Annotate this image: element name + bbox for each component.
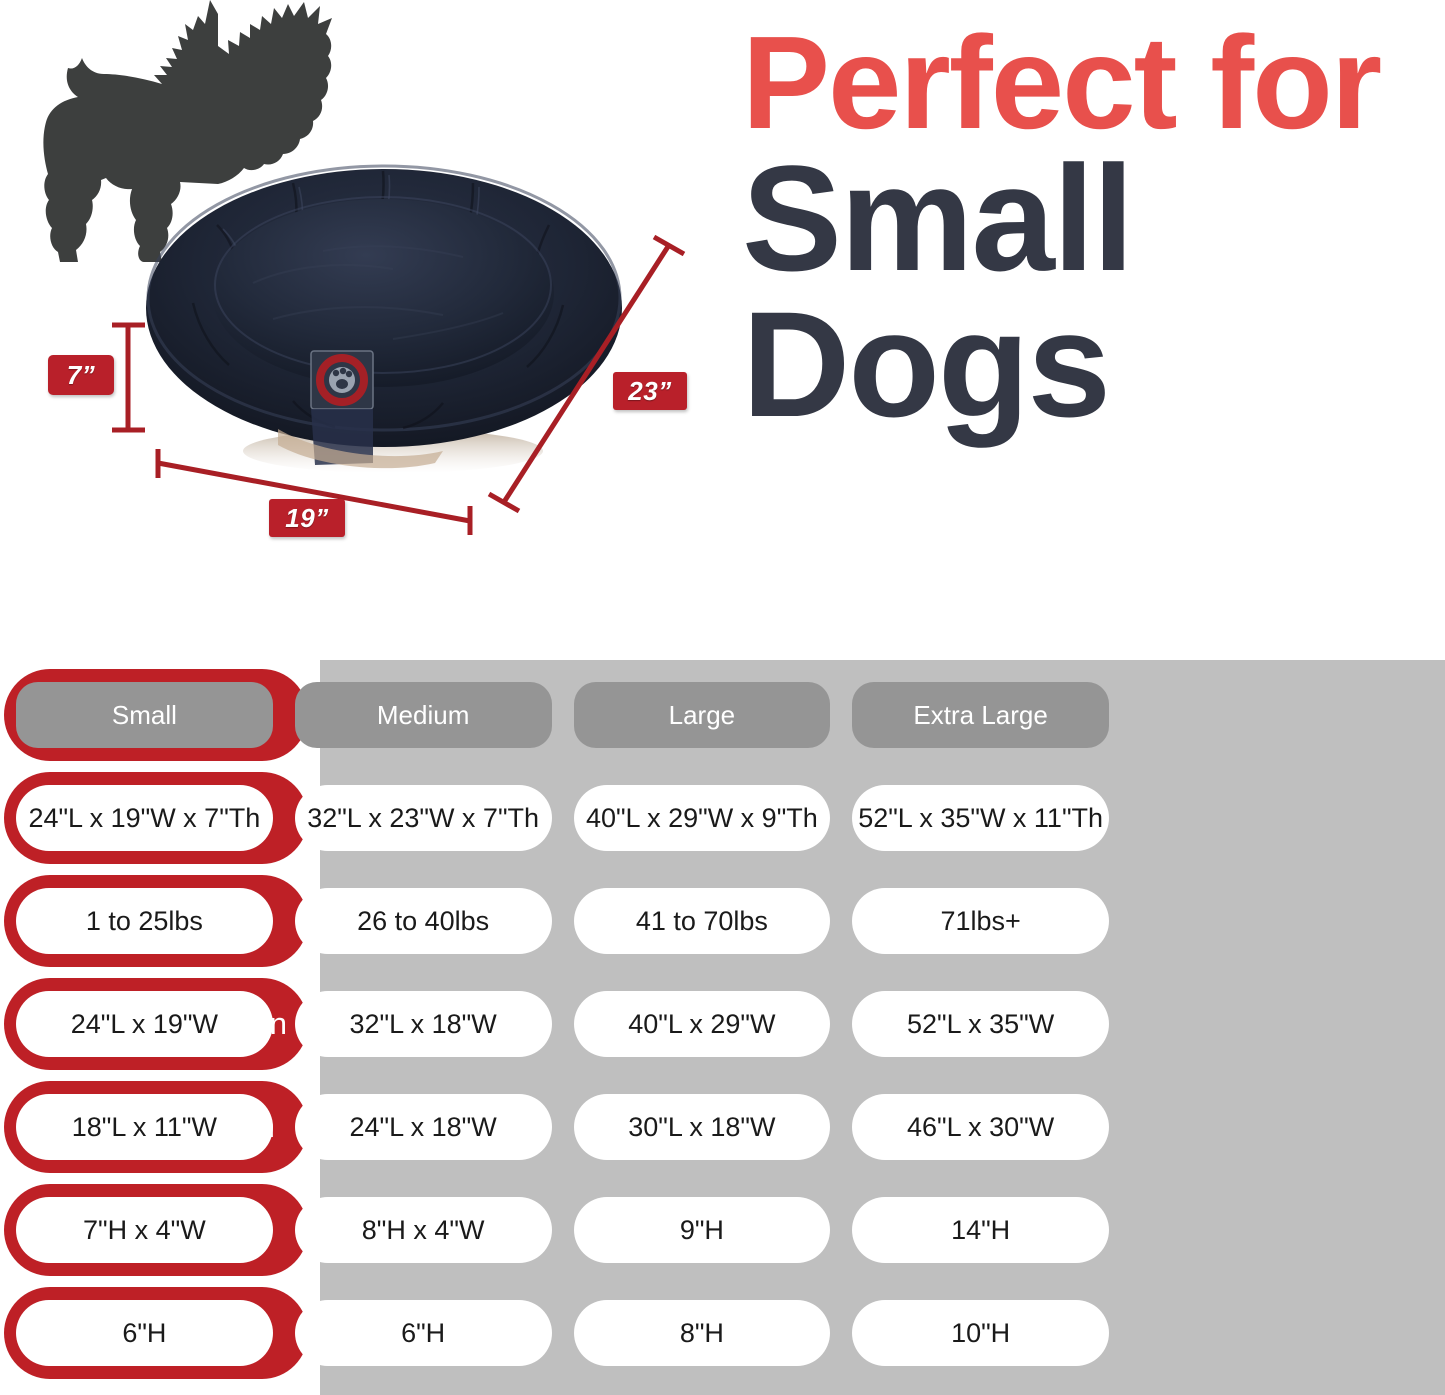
cell-suitable-weight-large: 41 to 70lbs [574, 888, 831, 954]
cell-bolster-small: 7"H x 4"W [16, 1197, 273, 1263]
cell-inside-dimension-small: 18"L x 11"W [16, 1094, 273, 1160]
cell-inside-dimension-medium: 24"L x 18"W [295, 1094, 552, 1160]
dog-bed-product-image [143, 133, 625, 483]
cell-dimensions-medium: 32"L x 23"W x 7"Th [295, 785, 552, 851]
hero-section: 7” 19” 23” Perfect for Small Dogs [0, 0, 1445, 655]
cell-outside-dimension-small: 24"L x 19"W [16, 991, 273, 1057]
size-chart-header-row: SmallMediumLargeExtra Large [16, 669, 1109, 761]
cell-bolster-extra-large: 14"H [852, 1197, 1109, 1263]
cell-bolster-medium: 8"H x 4"W [295, 1197, 552, 1263]
table-row: 1 to 25lbs26 to 40lbs41 to 70lbs71lbs+ [16, 875, 1109, 967]
headline-line-perfect-for: Perfect for [742, 22, 1442, 143]
callout-width-19in: 19” [269, 499, 345, 537]
table-row: 24"L x 19"W x 7"Th32"L x 23"W x 7"Th40"L… [16, 772, 1109, 864]
table-row: 6"H6"H8"H10"H [16, 1287, 1109, 1379]
size-chart-section: SizeDimensionsSuitable WeightOutside Dim… [0, 655, 1445, 1395]
headline-line-small: Small [742, 149, 1442, 287]
callout-height-7in: 7” [48, 355, 114, 395]
cell-outside-dimension-extra-large: 52"L x 35"W [852, 991, 1109, 1057]
cell-outside-dimension-medium: 32"L x 18"W [295, 991, 552, 1057]
headline-block: Perfect for Small Dogs [742, 22, 1442, 433]
column-header-large: Large [574, 682, 831, 748]
headline-line-dogs: Dogs [742, 295, 1442, 433]
cell-dimensions-large: 40"L x 29"W x 9"Th [574, 785, 831, 851]
column-header-medium: Medium [295, 682, 552, 748]
table-row: 18"L x 11"W24"L x 18"W30"L x 18"W46"L x … [16, 1081, 1109, 1173]
column-header-small: Small [16, 682, 273, 748]
callout-length-23in: 23” [613, 372, 687, 410]
cell-inside-dimension-large: 30"L x 18"W [574, 1094, 831, 1160]
cell-outside-dimension-large: 40"L x 29"W [574, 991, 831, 1057]
cell-suitable-weight-medium: 26 to 40lbs [295, 888, 552, 954]
cell-dimensions-extra-large: 52"L x 35"W x 11"Th [852, 785, 1109, 851]
cell-suitable-weight-extra-large: 71lbs+ [852, 888, 1109, 954]
cell-cushion-medium: 6"H [295, 1300, 552, 1366]
cell-dimensions-small: 24"L x 19"W x 7"Th [16, 785, 273, 851]
cell-cushion-large: 8"H [574, 1300, 831, 1366]
table-row: 24"L x 19"W32"L x 18"W40"L x 29"W52"L x … [16, 978, 1109, 1070]
table-row: 7"H x 4"W8"H x 4"W9"H14"H [16, 1184, 1109, 1276]
cell-cushion-extra-large: 10"H [852, 1300, 1109, 1366]
cell-bolster-large: 9"H [574, 1197, 831, 1263]
cell-inside-dimension-extra-large: 46"L x 30"W [852, 1094, 1109, 1160]
cell-cushion-small: 6"H [16, 1300, 273, 1366]
cell-suitable-weight-small: 1 to 25lbs [16, 888, 273, 954]
column-header-extra-large: Extra Large [852, 682, 1109, 748]
